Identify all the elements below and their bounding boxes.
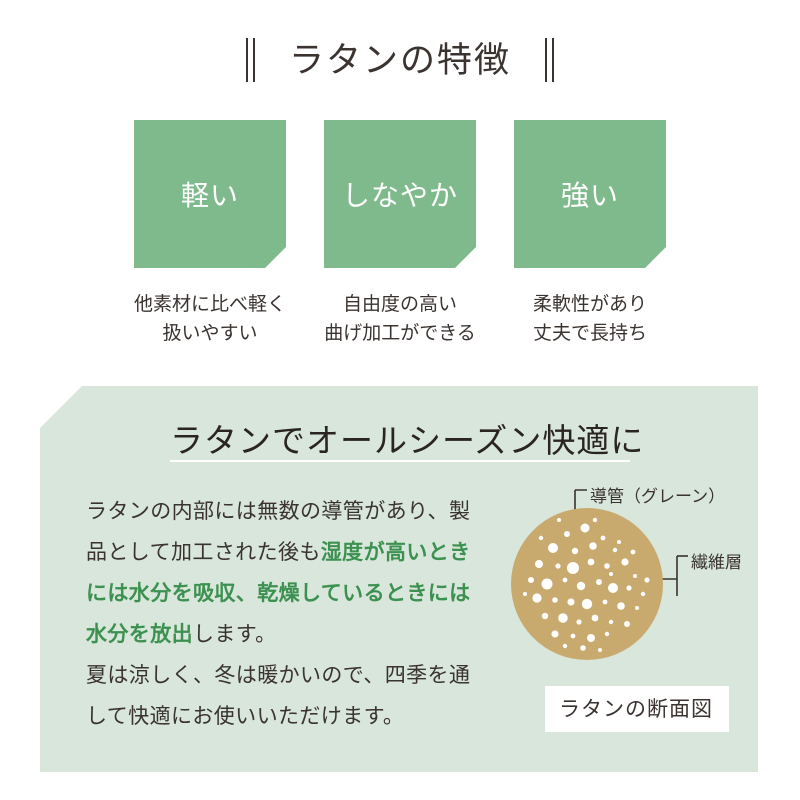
all-season-panel: ラタンでオールシーズン快適に ラタンの内部には無数の導管があり、製品として加工さ… [40,386,758,772]
diagram-label-fiber: 繊維層 [691,548,742,573]
feature-badge: 軽い [134,120,286,268]
feature-caption-line: 他素材に比べ軽く [134,290,286,319]
feature-card: しなやか 自由度の高い 曲げ加工ができる [324,120,476,349]
feature-badge: 強い [514,120,666,268]
feature-label: しなやか [342,174,458,214]
feature-label: 強い [561,174,619,214]
cross-section-diagram: 導管（グレーン） 繊維層 ラタンの断面図 [495,476,760,746]
body-segment: 夏は涼しく、冬は暖かいので、四季を通して快適にお使いいただけます。 [86,664,470,728]
section-heading: ラタンでオールシーズン快適に [170,414,644,462]
feature-caption: 他素材に比べ軽く 扱いやすい [134,290,286,349]
feature-card-list: 軽い 他素材に比べ軽く 扱いやすい しなやか 自由度の高い 曲げ加工ができる 強… [0,120,800,349]
page-title-row: ラタンの特徴 [0,38,800,82]
feature-card: 強い 柔軟性があり 丈夫で長持ち [514,120,666,349]
diagram-label-duct: 導管（グレーン） [590,482,725,507]
feature-caption-line: 曲げ加工ができる [324,319,476,348]
feature-card: 軽い 他素材に比べ軽く 扱いやすい [134,120,286,349]
double-vertical-bar-icon [246,38,255,82]
feature-label: 軽い [181,174,239,214]
diagram-caption: ラタンの断面図 [545,686,729,732]
panel-body-copy: ラタンの内部には無数の導管があり、製品として加工された後も湿度が高いときには水分… [86,492,486,738]
feature-caption-line: 自由度の高い [324,290,476,319]
body-segment: します。 [193,623,277,646]
heading-underline [170,460,630,462]
feature-caption-line: 丈夫で長持ち [514,319,666,348]
feature-badge: しなやか [324,120,476,268]
feature-caption-line: 柔軟性があり [514,290,666,319]
feature-caption-line: 扱いやすい [134,319,286,348]
rattan-cross-section-icon [495,476,760,691]
feature-caption: 柔軟性があり 丈夫で長持ち [514,290,666,349]
feature-caption: 自由度の高い 曲げ加工ができる [324,290,476,349]
double-vertical-bar-icon [545,38,554,82]
page-title: ラタンの特徴 [289,43,511,78]
